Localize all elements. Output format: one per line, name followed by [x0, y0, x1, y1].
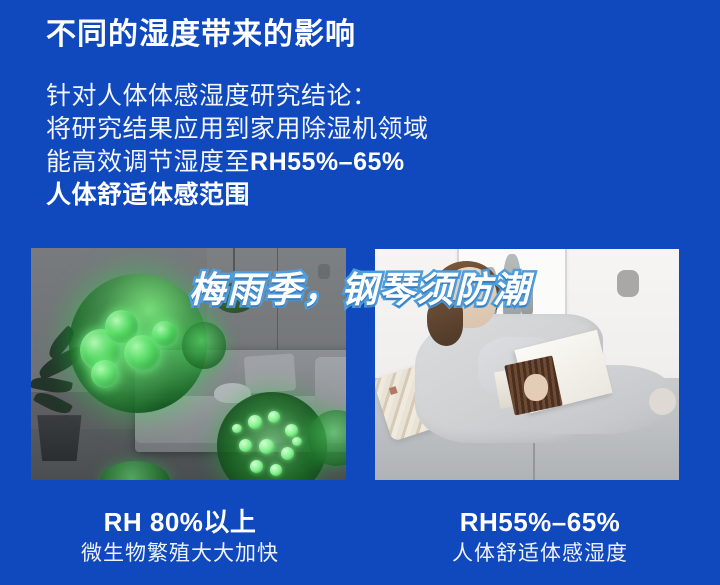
humidity-infographic: 不同的湿度带来的影响 针对人体体感湿度研究结论： 将研究结果应用到家用除湿机领域… [0, 0, 720, 585]
overlay-slogan: 梅雨季，钢琴须防潮 [0, 268, 720, 312]
intro-line-3-normal: 能高效调节湿度至 [46, 148, 250, 176]
sofa-cushion [244, 353, 297, 394]
person-foot [649, 388, 676, 416]
plant-pot-icon [34, 415, 84, 461]
person-hand [524, 374, 548, 402]
intro-line-2: 将研究结果应用到家用除湿机领域 [46, 113, 666, 146]
plant-leaf-icon [33, 388, 73, 418]
intro-line-3-highlight: RH55%–65% [250, 148, 405, 176]
intro-paragraph: 针对人体体感湿度研究结论： 将研究结果应用到家用除湿机领域 能高效调节湿度至RH… [46, 80, 666, 212]
microbe-small-icon [182, 322, 226, 368]
intro-line-4: 人体舒适体感范围 [46, 179, 666, 212]
page-title: 不同的湿度带来的影响 [46, 16, 356, 54]
caption-left-title: RH 80%以上 [0, 505, 360, 539]
caption-right-subtitle: 人体舒适体感湿度 [360, 539, 720, 569]
intro-line-3: 能高效调节湿度至RH55%–65% [46, 146, 666, 179]
caption-left-subtitle: 微生物繁殖大大加快 [0, 539, 360, 569]
intro-line-1: 针对人体体感湿度研究结论： [46, 80, 666, 113]
caption-comfort-humidity: RH55%–65% 人体舒适体感湿度 [360, 505, 720, 569]
caption-high-humidity: RH 80%以上 微生物繁殖大大加快 [0, 505, 360, 569]
caption-right-title: RH55%–65% [360, 505, 720, 539]
